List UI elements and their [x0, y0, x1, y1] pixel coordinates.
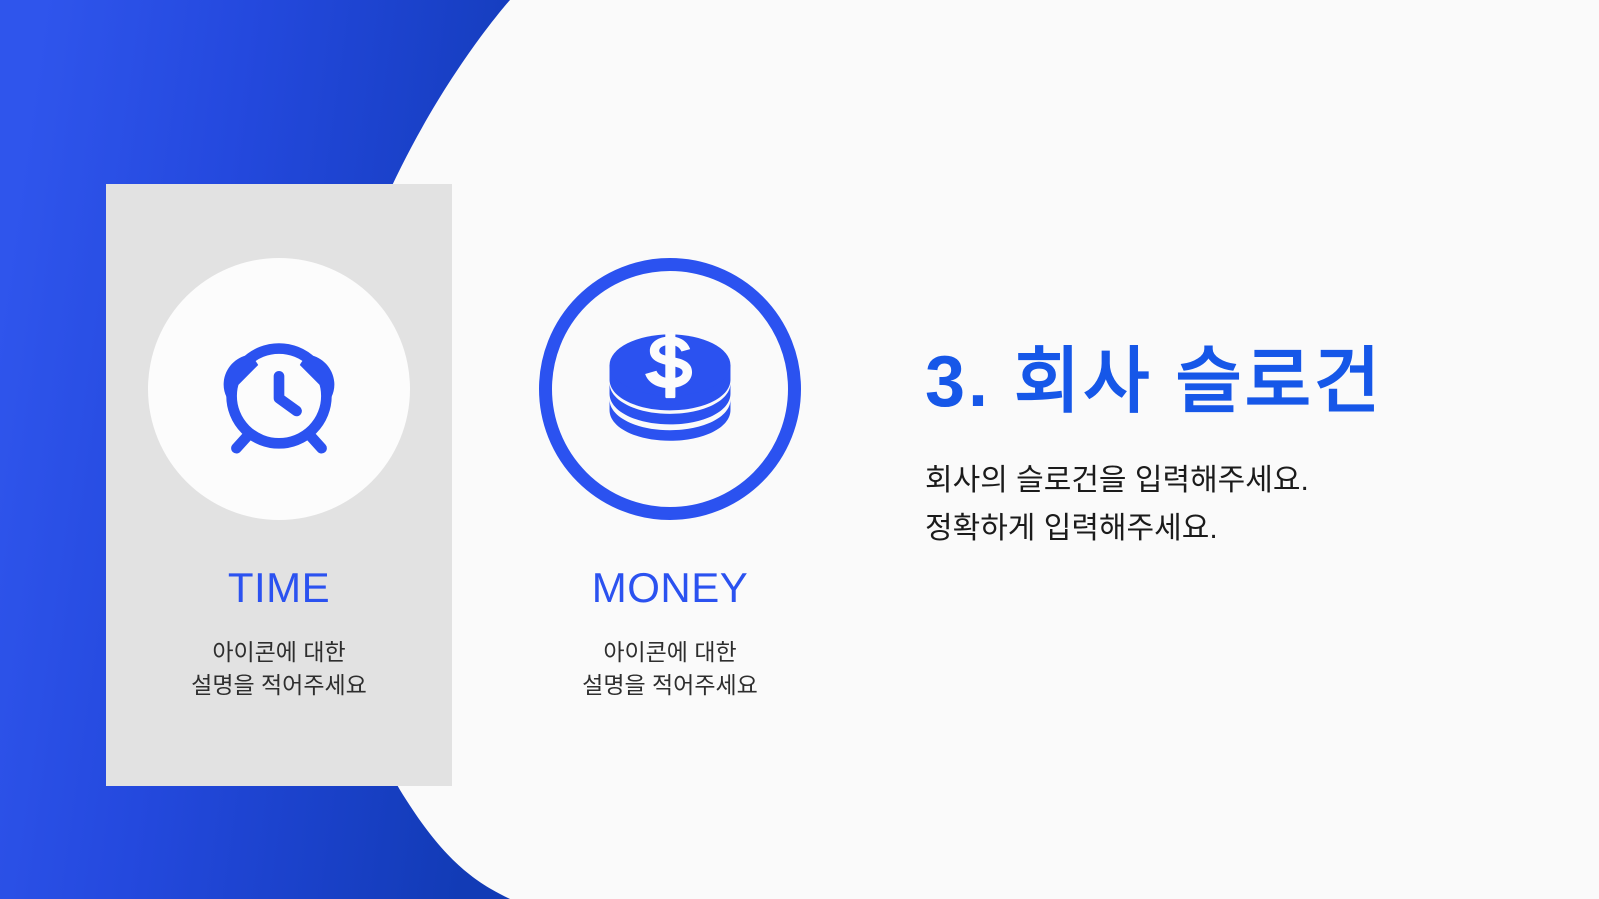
feature-block-time[interactable]: TIME 아이콘에 대한 설명을 적어주세요 [106, 184, 452, 804]
alarm-clock-icon [205, 315, 353, 463]
page-title: 3. 회사 슬로건 [925, 340, 1525, 425]
feature-description-money: 아이콘에 대한 설명을 적어주세요 [582, 636, 758, 703]
feature-title-time: TIME [228, 567, 330, 609]
feature-block-money[interactable]: MONEY 아이콘에 대한 설명을 적어주세요 [497, 184, 843, 804]
icon-circle-money [539, 258, 801, 520]
coin-stack-dollar-icon [595, 314, 745, 464]
slide-canvas: TIME 아이콘에 대한 설명을 적어주세요 MO [0, 0, 1599, 899]
page-body-text: 회사의 슬로건을 입력해주세요. 정확하게 입력해주세요. [925, 457, 1525, 553]
feature-title-money: MONEY [592, 567, 749, 609]
content-block: 3. 회사 슬로건 회사의 슬로건을 입력해주세요. 정확하게 입력해주세요. [925, 340, 1525, 553]
feature-description-time: 아이콘에 대한 설명을 적어주세요 [191, 636, 367, 703]
icon-circle-time [148, 258, 410, 520]
